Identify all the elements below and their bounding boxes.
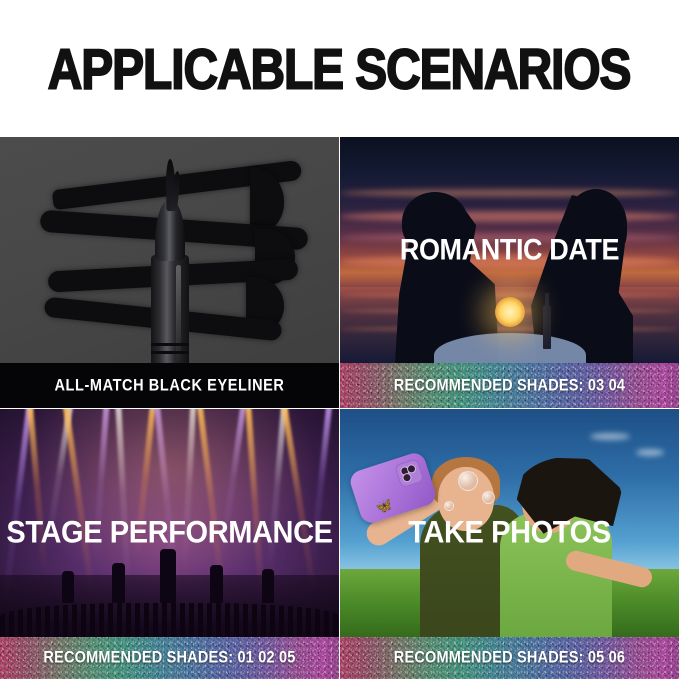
eyeliner-pen-ring: [151, 351, 189, 354]
scenario-grid: ALL-MATCH BLACK EYELINER: [0, 137, 679, 679]
sunset-cloud: [340, 189, 679, 197]
cloud: [590, 433, 630, 440]
eyeliner-pen-barrel: [151, 255, 189, 363]
performer-silhouette: [160, 549, 176, 603]
panel-all-match-black-eyeliner[interactable]: ALL-MATCH BLACK EYELINER: [0, 137, 339, 408]
performer-silhouette: [210, 565, 223, 603]
caption-band-glitter: RECOMMENDED SHADES: 03 04: [340, 363, 679, 408]
cloud: [636, 449, 664, 456]
caption-band-black: ALL-MATCH BLACK EYELINER: [0, 363, 339, 408]
performer-silhouette: [112, 563, 125, 603]
caption-text: RECOMMENDED SHADES: 01 02 05: [43, 649, 295, 667]
table-lamp-glow: [495, 297, 525, 327]
take-photos-photo: 🦋 TAKE PHOTOS: [340, 409, 679, 637]
camera-module: [394, 458, 424, 488]
panel-take-photos[interactable]: 🦋 TAKE PHOTOS RECOMMENDED SHADES: 05 06: [340, 409, 679, 679]
row-divider: [0, 408, 679, 409]
header: APPLICABLE SCENARIOS: [0, 0, 679, 137]
caption-band-glitter: RECOMMENDED SHADES: 05 06: [340, 637, 679, 679]
caption-band-glitter: RECOMMENDED SHADES: 01 02 05: [0, 637, 339, 679]
eyeliner-pen-ring: [151, 343, 189, 346]
overlay-label: TAKE PHOTOS: [340, 515, 679, 551]
camera-lens: [401, 472, 412, 483]
romantic-date-photo: ROMANTIC DATE: [340, 137, 679, 363]
wine-bottle: [543, 305, 551, 349]
grey-backdrop: [0, 137, 339, 363]
soap-bubble: [444, 501, 454, 511]
performer-silhouette: [262, 569, 274, 603]
soap-bubble: [482, 491, 495, 504]
eyeliner-pen-highlight: [176, 265, 181, 363]
overlay-label: STAGE PERFORMANCE: [0, 515, 339, 551]
performer-silhouette: [62, 571, 74, 603]
overlay-label: ROMANTIC DATE: [340, 233, 679, 267]
sunset-cloud: [340, 211, 679, 222]
caption-text: ALL-MATCH BLACK EYELINER: [54, 377, 284, 395]
stage-performance-photo: STAGE PERFORMANCE: [0, 409, 339, 637]
caption-text: RECOMMENDED SHADES: 03 04: [394, 377, 625, 395]
soap-bubble: [458, 471, 478, 491]
butterfly-icon: 🦋: [374, 498, 393, 515]
panel-romantic-date[interactable]: ROMANTIC DATE RECOMMENDED SHADES: 03 04: [340, 137, 679, 408]
eyeliner-product-photo: [0, 137, 339, 363]
page-title: APPLICABLE SCENARIOS: [48, 36, 631, 102]
panel-stage-performance[interactable]: STAGE PERFORMANCE RECOMMENDED SHADES: 01…: [0, 409, 339, 679]
caption-text: RECOMMENDED SHADES: 05 06: [394, 649, 625, 667]
applicable-scenarios-infographic: APPLICABLE SCENARIOS: [0, 0, 679, 679]
audience-crowd: [0, 603, 339, 637]
